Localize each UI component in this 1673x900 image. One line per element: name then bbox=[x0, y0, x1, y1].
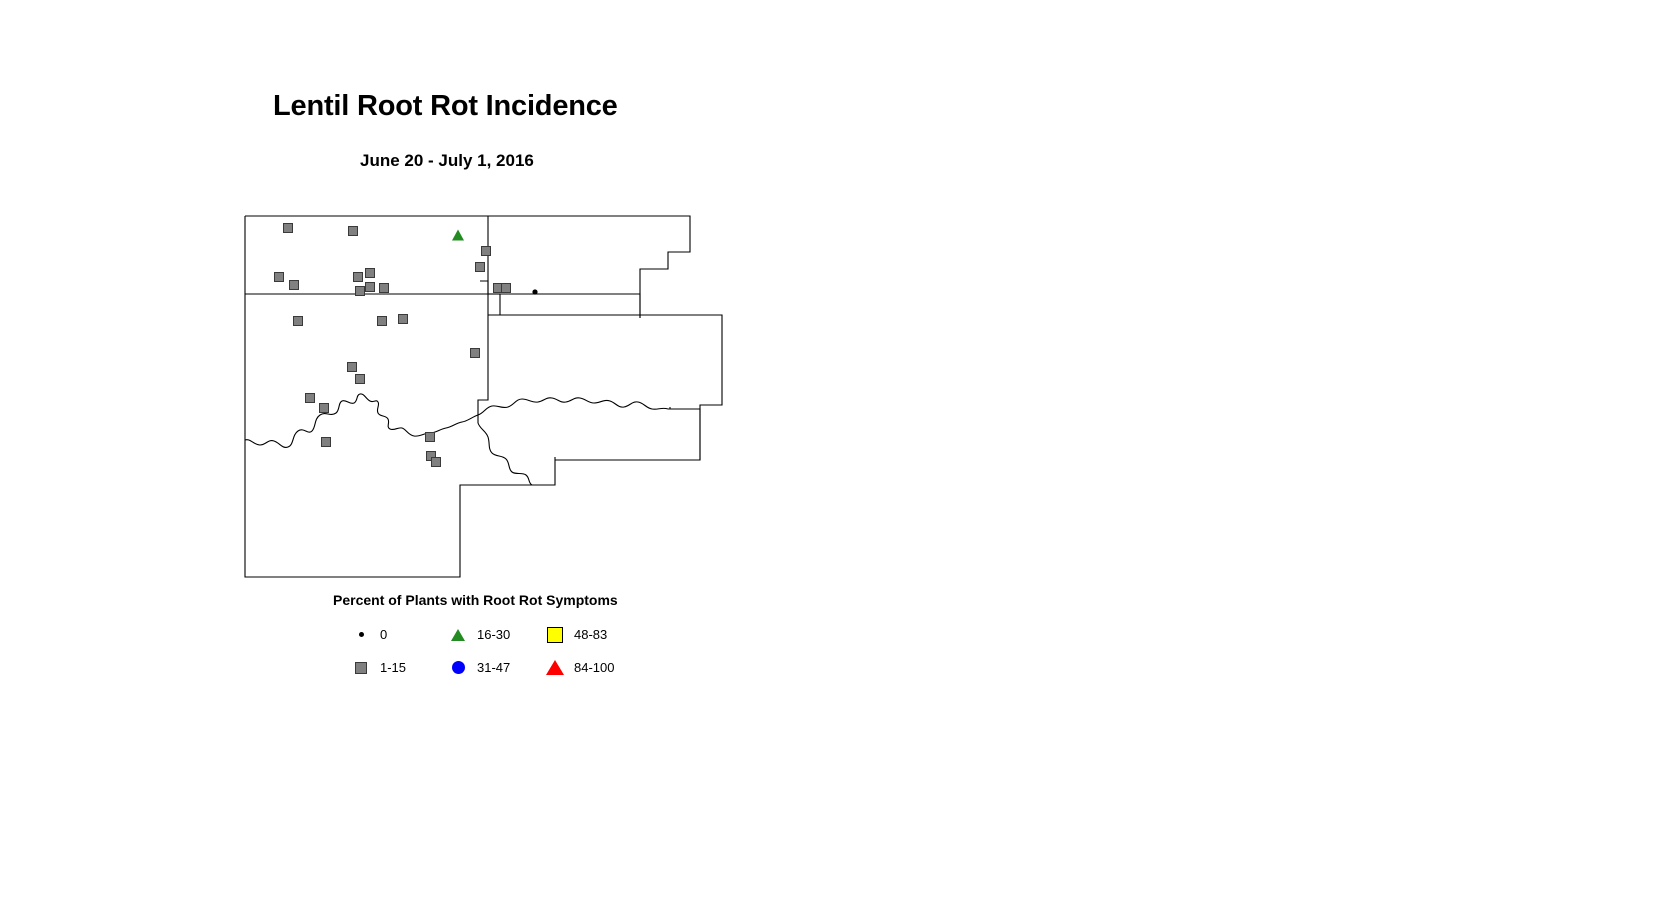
map-marker[interactable] bbox=[426, 433, 435, 442]
map-marker[interactable] bbox=[284, 224, 293, 233]
map-marker[interactable] bbox=[275, 273, 284, 282]
legend-item-48-83[interactable]: 48-83 bbox=[544, 618, 607, 651]
legend-row-top: 0 16-30 48-83 bbox=[350, 618, 650, 651]
map-page: Lentil Root Rot Incidence June 20 - July… bbox=[0, 0, 1673, 900]
map-marker[interactable] bbox=[320, 404, 329, 413]
legend-item-31-47[interactable]: 31-47 bbox=[447, 651, 510, 684]
legend-item-0[interactable]: 0 bbox=[350, 618, 387, 651]
legend-label: 48-83 bbox=[574, 627, 607, 642]
map-marker[interactable] bbox=[356, 287, 365, 296]
legend: 0 16-30 48-83 1-15 31-47 84-100 bbox=[350, 618, 650, 684]
map-marker[interactable] bbox=[349, 227, 358, 236]
map-marker[interactable] bbox=[294, 317, 303, 326]
map-marker[interactable] bbox=[348, 363, 357, 372]
legend-label: 84-100 bbox=[574, 660, 614, 675]
legend-label: 0 bbox=[380, 627, 387, 642]
map-marker[interactable] bbox=[366, 269, 375, 278]
map-marker[interactable] bbox=[399, 315, 408, 324]
legend-item-1-15[interactable]: 1-15 bbox=[350, 651, 406, 684]
legend-row-bottom: 1-15 31-47 84-100 bbox=[350, 651, 650, 684]
legend-item-84-100[interactable]: 84-100 bbox=[544, 651, 614, 684]
map-marker[interactable] bbox=[452, 230, 464, 241]
map-marker[interactable] bbox=[290, 281, 299, 290]
map-marker[interactable] bbox=[356, 375, 365, 384]
map-marker[interactable] bbox=[502, 284, 511, 293]
map-marker[interactable] bbox=[306, 394, 315, 403]
gray-square-icon bbox=[350, 662, 372, 674]
legend-label: 16-30 bbox=[477, 627, 510, 642]
legend-item-16-30[interactable]: 16-30 bbox=[447, 618, 510, 651]
legend-label: 1-15 bbox=[380, 660, 406, 675]
yellow-square-icon bbox=[544, 627, 566, 643]
map-marker[interactable] bbox=[366, 283, 375, 292]
page-title: Lentil Root Rot Incidence bbox=[273, 90, 618, 123]
map-marker[interactable] bbox=[354, 273, 363, 282]
legend-label: 31-47 bbox=[477, 660, 510, 675]
legend-title: Percent of Plants with Root Rot Symptoms bbox=[333, 592, 618, 608]
map-marker[interactable] bbox=[378, 317, 387, 326]
green-triangle-icon bbox=[447, 629, 469, 641]
map-marker[interactable] bbox=[432, 458, 441, 467]
black-dot-icon bbox=[350, 632, 372, 637]
blue-circle-icon bbox=[447, 661, 469, 674]
map-marker[interactable] bbox=[322, 438, 331, 447]
page-subtitle: June 20 - July 1, 2016 bbox=[360, 151, 534, 171]
map-marker[interactable] bbox=[380, 284, 389, 293]
red-triangle-icon bbox=[544, 660, 566, 675]
map-marker[interactable] bbox=[471, 349, 480, 358]
map-marker[interactable] bbox=[482, 247, 491, 256]
map-marker[interactable] bbox=[476, 263, 485, 272]
county-map[interactable] bbox=[230, 195, 750, 595]
map-marker[interactable] bbox=[532, 289, 537, 294]
